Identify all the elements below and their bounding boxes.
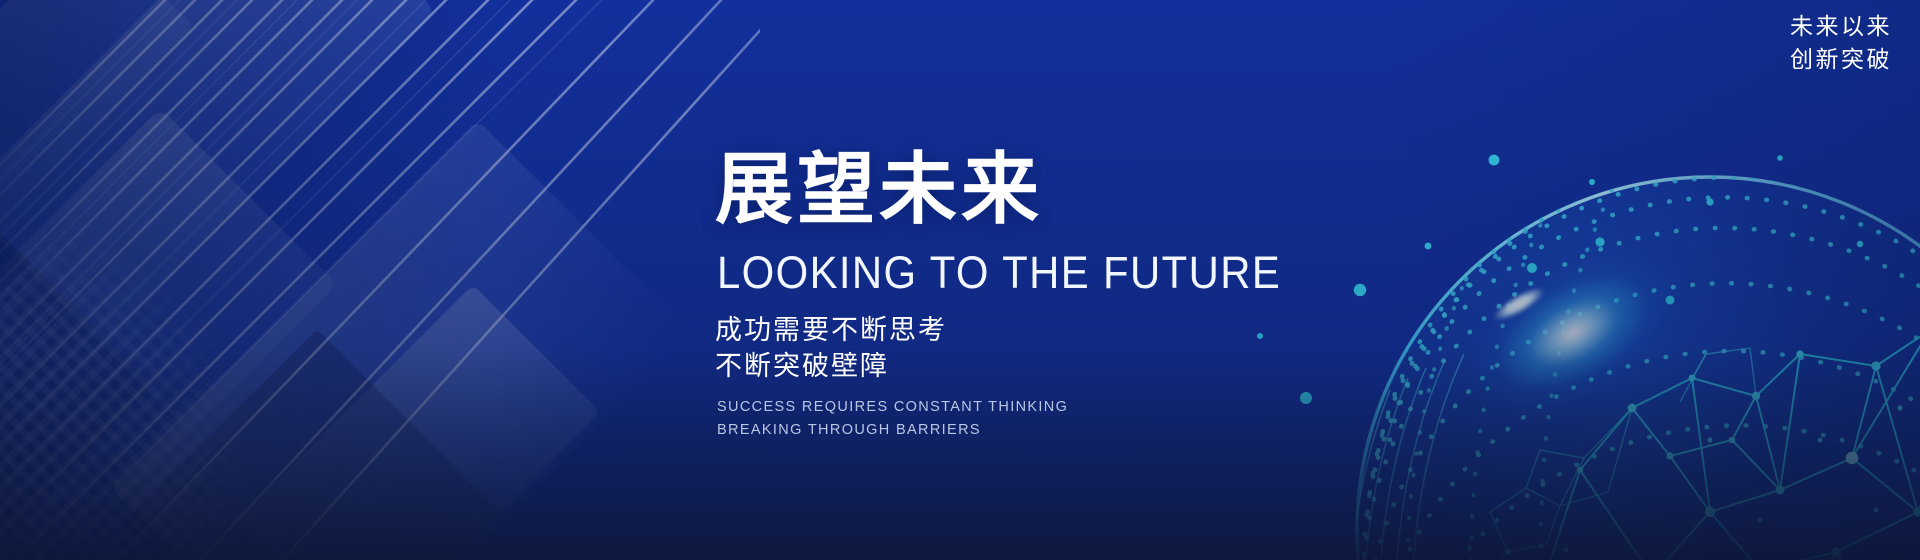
- corner-slogan-line2: 创新突破: [1790, 43, 1892, 76]
- headline-block: 展望未来 LOOKING TO THE FUTURE 成功需要不断思考 不断突破…: [715, 150, 1475, 443]
- page-title: 展望未来: [715, 150, 1475, 228]
- globe-limb-hotspot: [1489, 282, 1548, 327]
- tagline-english: SUCCESS REQUIRES CONSTANT THINKING BREAK…: [717, 396, 1475, 443]
- globe-coastline-mesh: [1446, 348, 1756, 560]
- globe-network-lines: [1480, 330, 1920, 560]
- diagonal-geometric-pattern: [0, 0, 760, 560]
- dot-grid-pattern: [0, 210, 380, 560]
- globe-highlight-nodes: [1358, 452, 1858, 560]
- tagline-en-line1: SUCCESS REQUIRES CONSTANT THINKING: [717, 396, 1475, 419]
- banner-root: 未来以来 创新突破 展望未来 LOOKING TO THE FUTURE 成功需…: [0, 0, 1920, 560]
- corner-slogan: 未来以来 创新突破: [1790, 10, 1892, 75]
- geometry-svg: [0, 0, 760, 560]
- corner-slogan-line1: 未来以来: [1790, 10, 1892, 43]
- geo-hairlines-soft: [0, 0, 760, 560]
- globe-network-nodes: [1477, 327, 1920, 560]
- globe-inner-dots: [1564, 405, 1920, 560]
- tagline-en-line2: BREAKING THROUGH BARRIERS: [717, 419, 1475, 442]
- geo-slabs: [0, 0, 690, 560]
- tagline-cn-line2: 不断突破壁障: [715, 349, 1475, 385]
- tagline-cn-line1: 成功需要不断思考: [715, 313, 1475, 349]
- tagline-chinese: 成功需要不断思考 不断突破壁障: [715, 313, 1475, 385]
- page-subtitle-english: LOOKING TO THE FUTURE: [717, 250, 1422, 295]
- globe-limb-glow: [1441, 219, 1705, 447]
- geo-hairlines: [0, 0, 760, 560]
